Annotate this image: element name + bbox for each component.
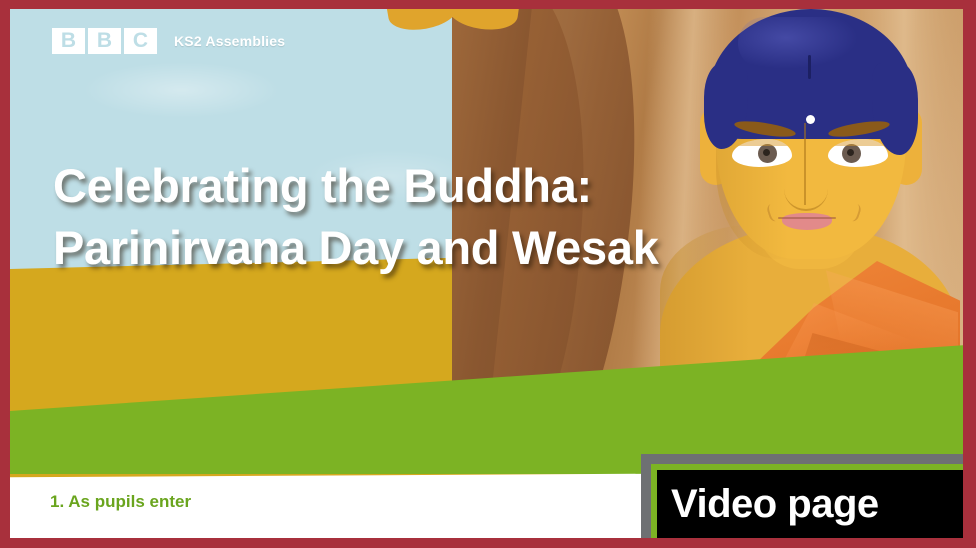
- video-page-badge-accent: Video page: [651, 464, 963, 538]
- bbc-logo[interactable]: B B C: [52, 28, 157, 54]
- caption-label: 1. As pupils enter: [50, 492, 191, 512]
- page-title-line-2: Parinirvana Day and Wesak: [53, 217, 833, 279]
- buddha-hair-highlight: [738, 17, 858, 69]
- buddha-pupil-right: [842, 144, 861, 163]
- buddha-hair-part: [808, 55, 811, 79]
- header-bar: B B C KS2 Assemblies: [52, 28, 285, 54]
- bbc-logo-letter-2: B: [88, 28, 121, 54]
- page-frame: B B C KS2 Assemblies Celebrating the Bud…: [0, 0, 976, 548]
- bbc-logo-letter-3: C: [124, 28, 157, 54]
- page-title-line-1: Celebrating the Buddha:: [53, 155, 833, 217]
- video-page-badge-label: Video page: [671, 484, 879, 524]
- buddha-eye-right: [828, 139, 888, 167]
- page-title: Celebrating the Buddha: Parinirvana Day …: [53, 155, 833, 279]
- buddha-urna-dot: [806, 115, 815, 124]
- buddha-eyelid-left: [732, 139, 792, 146]
- buddha-eyelid-right: [828, 139, 888, 146]
- video-page-badge-screen: Video page: [657, 470, 963, 538]
- brand-label: KS2 Assemblies: [174, 33, 285, 49]
- bbc-logo-letter-1: B: [52, 28, 85, 54]
- video-page-badge[interactable]: Video page: [641, 454, 963, 538]
- hero-banner: B B C KS2 Assemblies Celebrating the Bud…: [10, 9, 963, 538]
